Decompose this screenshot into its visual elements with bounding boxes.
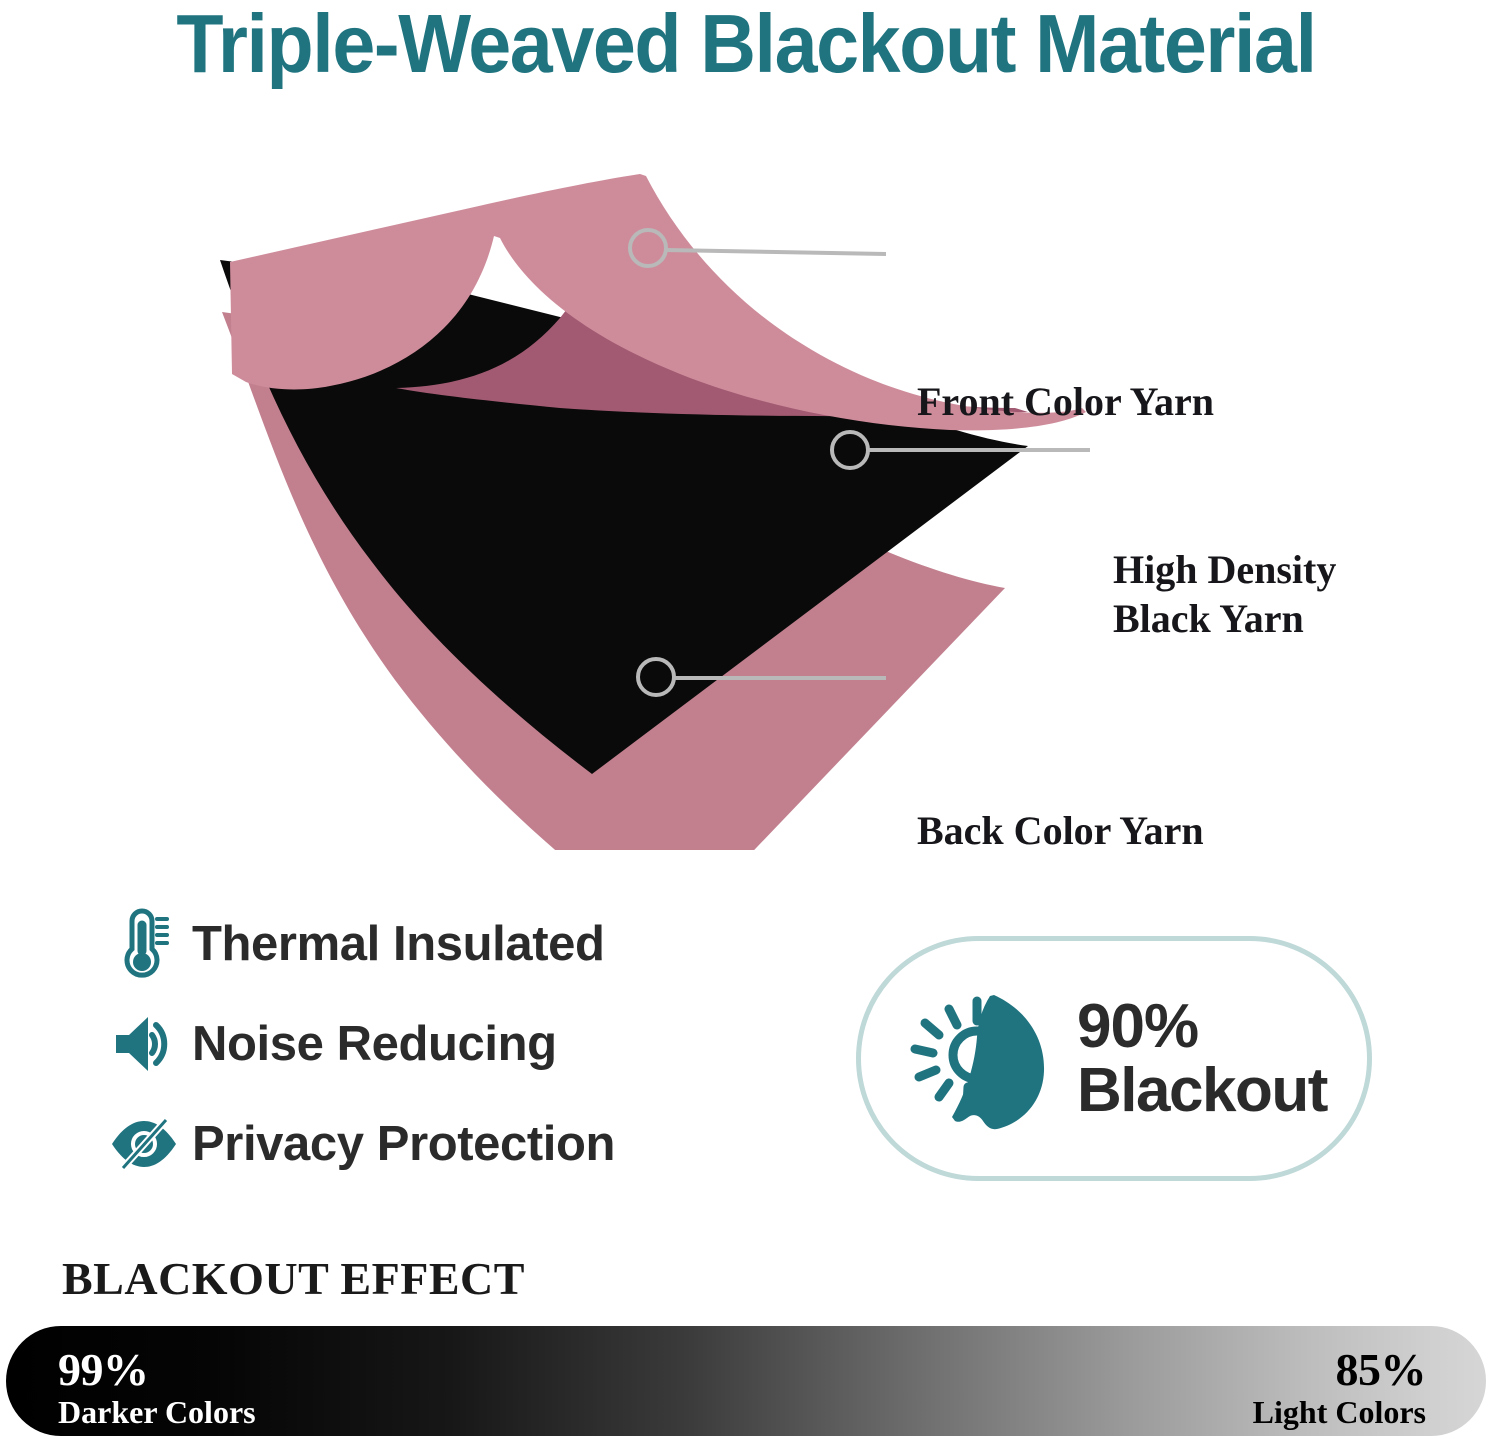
feature-item-thermal: Thermal Insulated <box>108 898 808 990</box>
label-front-color-yarn: Front Color Yarn <box>917 378 1214 427</box>
thermometer-icon <box>108 907 180 981</box>
bar-left-stat: 99% Darker Colors <box>58 1346 256 1431</box>
feature-label-privacy: Privacy Protection <box>192 1116 615 1172</box>
bar-right-percent: 85% <box>1253 1346 1426 1395</box>
label-back-color-yarn: Back Color Yarn <box>917 807 1204 856</box>
label-high-density-line2: Black Yarn <box>1113 595 1336 644</box>
bar-left-caption: Darker Colors <box>58 1395 256 1431</box>
feature-label-noise: Noise Reducing <box>192 1016 557 1072</box>
fabric-layer-diagram: Front Color Yarn High Density Black Yarn… <box>0 150 1492 850</box>
badge-word: Blackout <box>1077 1059 1327 1122</box>
label-high-density-line1: High Density <box>1113 546 1336 595</box>
feature-label-thermal: Thermal Insulated <box>192 916 605 972</box>
bar-left-percent: 99% <box>58 1346 256 1395</box>
blackout-badge: 90% Blackout <box>856 936 1372 1181</box>
feature-list: Thermal Insulated Noise Reducing <box>108 898 808 1198</box>
speaker-sound-icon <box>108 1015 180 1073</box>
page-title: Triple-Weaved Blackout Material <box>52 0 1440 92</box>
blackout-effect-gradient-bar: 99% Darker Colors 85% Light Colors <box>6 1326 1486 1436</box>
badge-percent: 90% <box>1077 995 1327 1058</box>
blackout-effect-heading: BLACKOUT EFFECT <box>62 1252 525 1305</box>
feature-item-noise: Noise Reducing <box>108 998 808 1090</box>
badge-text-block: 90% Blackout <box>1077 995 1327 1121</box>
label-high-density-black-yarn: High Density Black Yarn <box>1113 546 1336 644</box>
bar-right-stat: 85% Light Colors <box>1253 1346 1426 1431</box>
feature-item-privacy: Privacy Protection <box>108 1098 808 1190</box>
eye-slash-icon <box>108 1118 180 1170</box>
sun-behind-blind-icon <box>897 979 1057 1139</box>
product-infographic: Triple-Weaved Blackout Material <box>0 0 1492 1439</box>
bar-right-caption: Light Colors <box>1253 1395 1426 1431</box>
